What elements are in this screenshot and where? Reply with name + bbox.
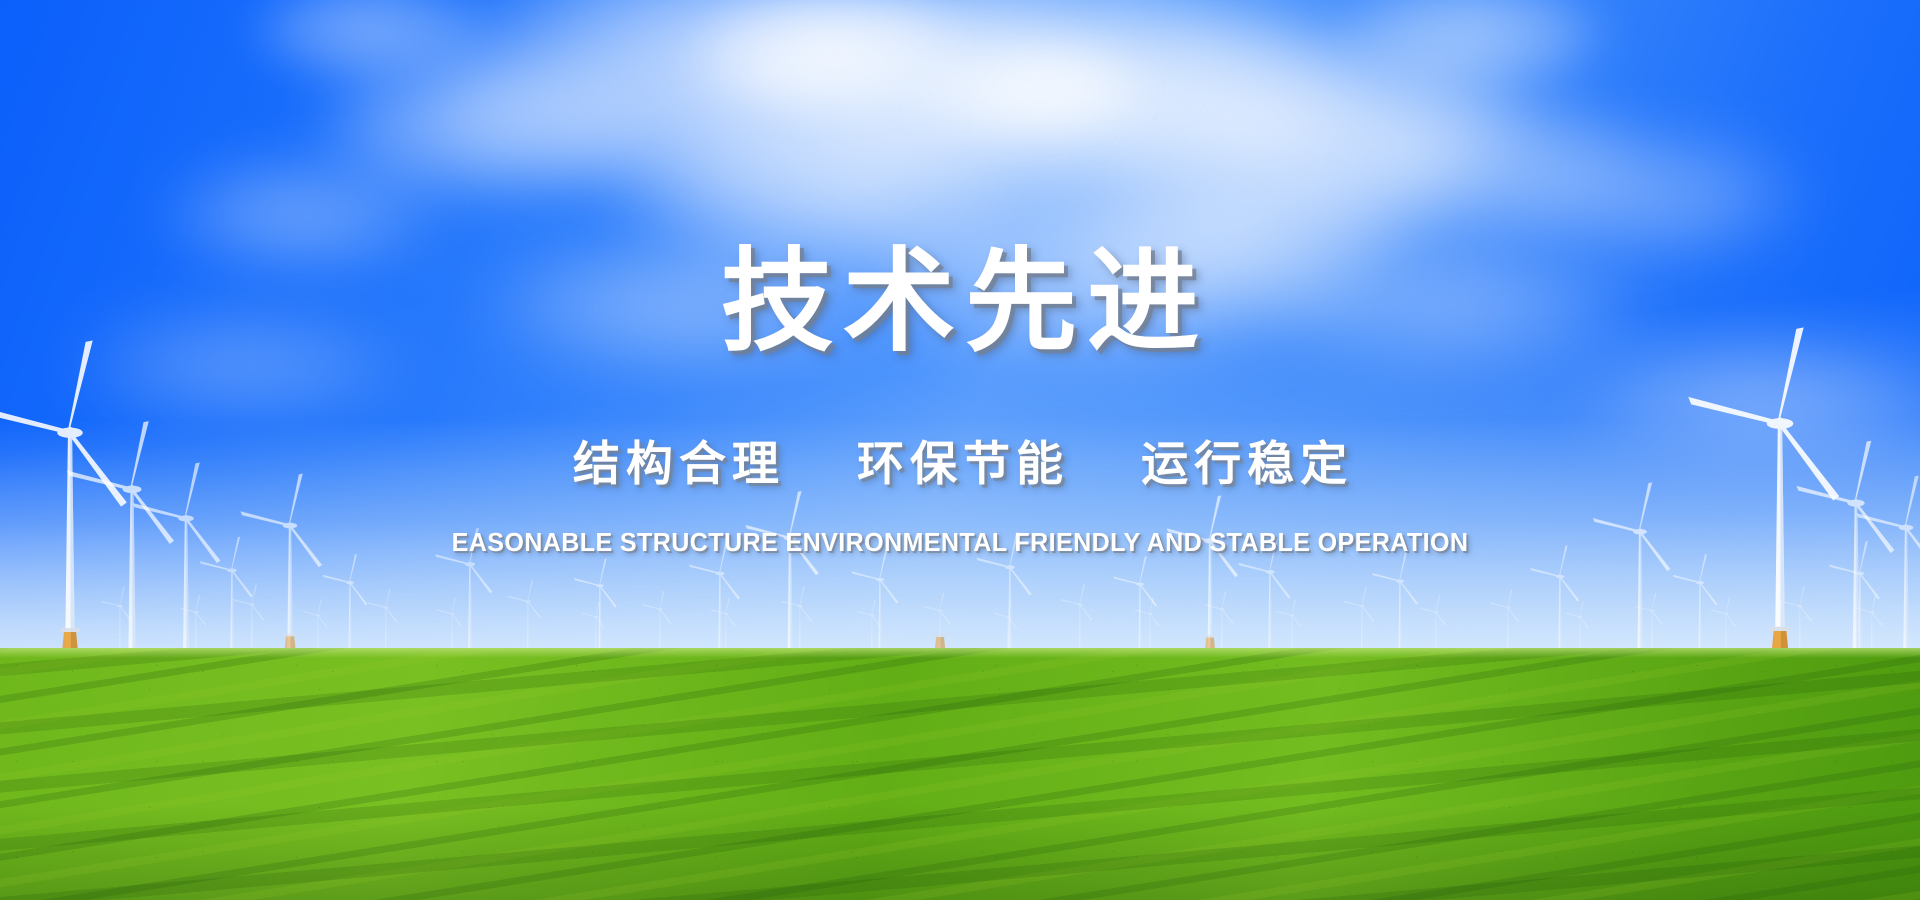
banner-tagline: EASONABLE STRUCTURE ENVIRONMENTAL FRIEND… — [34, 529, 1887, 555]
banner-headline: 技术先进 — [0, 246, 1920, 358]
hero-banner: 技术先进 结构合理 环保节能 运行稳定 EASONABLE STRUCTURE … — [0, 0, 1920, 900]
subheadline-group-1: 结构合理 — [573, 437, 785, 490]
subheadline-group-3: 运行稳定 — [1141, 437, 1353, 490]
subheadline-group-2: 环保节能 — [857, 437, 1069, 490]
banner-copy: 技术先进 结构合理 环保节能 运行稳定 EASONABLE STRUCTURE … — [0, 0, 1920, 900]
banner-subheadline: 结构合理 环保节能 运行稳定 — [0, 440, 1920, 487]
